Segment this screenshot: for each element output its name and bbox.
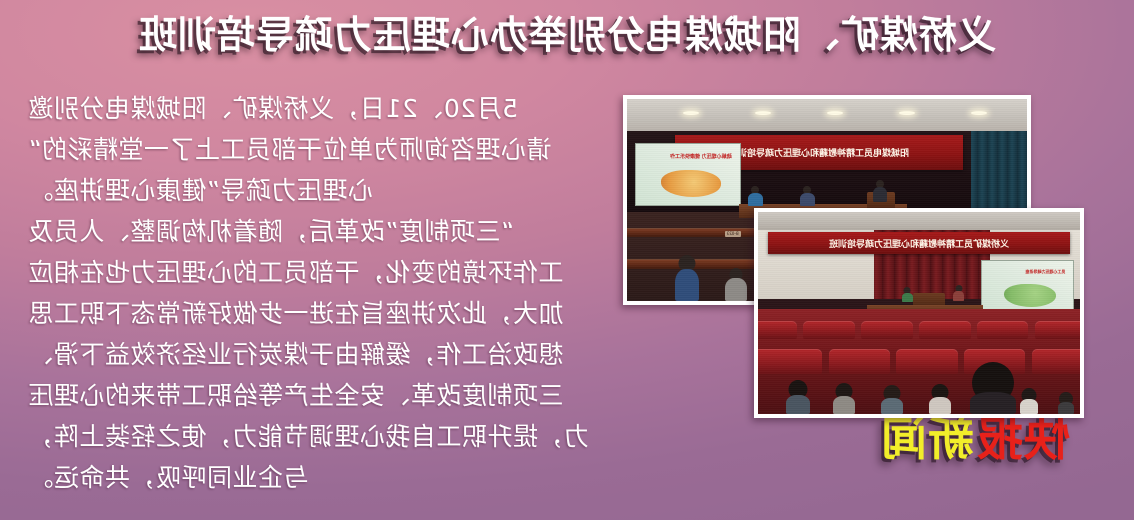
presenter: [953, 285, 964, 301]
presenter-body: [800, 193, 815, 206]
masthead-watermark: 新闻 快报: [880, 416, 1070, 462]
audience-body: [675, 269, 699, 301]
audience-body: [1020, 399, 1038, 414]
theatre-seat: [861, 321, 913, 339]
presenter: [800, 186, 815, 206]
article-line: 想政治工作，缓解由于煤炭行业经济效益下滑、: [28, 334, 628, 375]
audience-member: [929, 384, 951, 414]
masthead-part-one: 新闻: [880, 416, 974, 462]
audience-member: [1058, 392, 1074, 414]
event-banner: 义桥煤矿员工精神慰藉和心理压力疏导培训班: [768, 232, 1071, 254]
article-line: 与企业同呼吸，共命运。: [28, 457, 628, 498]
event-banner-text: 阳城煤电员工精神慰藉和心理压力疏导培训班: [729, 146, 909, 159]
slide-graphic: [661, 170, 721, 197]
audience-member: [675, 255, 699, 301]
presenter: [902, 287, 913, 302]
ceiling: [627, 99, 1027, 131]
seat-tag: B-023: [725, 231, 741, 237]
article-line: “三项制度”改革后，随着机构调整、人员及: [28, 211, 628, 252]
projection-screen-title: 员工心理压力疏导讲座: [1025, 269, 1065, 275]
projection-screen: 疏解心理压力 健康快乐工作: [635, 143, 741, 206]
presenter-body: [902, 293, 913, 302]
theatre-seat: [919, 321, 971, 339]
article-line: 请心理咨询师为单位干部员工上了一堂精彩的“: [28, 129, 628, 170]
theatre-seat: [829, 349, 890, 373]
slide-graphic: [1004, 284, 1056, 308]
article-line: 力，提升职工自我心理调节能力，使之轻装上阵，: [28, 416, 628, 457]
page-title-text: 义桥煤矿、阳城煤电分别举办心理压力疏导培训班: [138, 14, 996, 58]
photo-2-content: 义桥煤矿员工精神慰藉和心理压力疏导培训班 员工心理压力疏导讲座: [758, 212, 1080, 414]
presenter-body: [748, 193, 763, 206]
audience-body: [833, 396, 855, 414]
photo-auditorium-audience: 义桥煤矿员工精神慰藉和心理压力疏导培训班 员工心理压力疏导讲座: [754, 208, 1084, 418]
audience-body: [970, 392, 1016, 414]
presenter: [873, 180, 887, 202]
theatre-seat: [758, 321, 797, 339]
audience-member: [1020, 388, 1038, 414]
theatre-seat: [758, 349, 822, 373]
presenter-body: [873, 187, 887, 202]
audience-body: [725, 278, 747, 301]
masthead-part-two: 快报: [976, 416, 1070, 462]
stage-curtain: [971, 131, 1027, 216]
projection-screen: 员工心理压力疏导讲座: [981, 260, 1073, 315]
presenter: [748, 186, 763, 206]
article-line: 工作环境的变化，干部员工的心理压力也在相应: [28, 252, 628, 293]
news-poster: 义桥煤矿、阳城煤电分别举办心理压力疏导培训班 阳城煤电员工精神慰藉和心理压力疏导…: [0, 0, 1134, 520]
article-line: 三项制度改革、安全生产等给职工带来的心理压: [28, 375, 628, 416]
theatre-seat: [1035, 321, 1080, 339]
presenter-body: [953, 291, 964, 301]
audience-member-foreground: [970, 362, 1016, 414]
audience-member: [833, 383, 855, 414]
page-title: 义桥煤矿、阳城煤电分别举办心理压力疏导培训班: [0, 14, 1134, 58]
article-body: 5月20、21日，义桥煤矿、阳城煤电分别邀 请心理咨询师为单位干部员工上了一堂精…: [28, 88, 628, 498]
projection-screen-title: 疏解心理压力 健康快乐工作: [670, 153, 732, 160]
theatre-seat: [803, 321, 855, 339]
audience-member: [881, 385, 903, 414]
audience-member: [786, 380, 810, 414]
audience-body: [1058, 402, 1074, 414]
ceiling: [758, 212, 1080, 230]
audience-body: [881, 398, 903, 414]
auditorium-scene: 义桥煤矿员工精神慰藉和心理压力疏导培训班 员工心理压力疏导讲座: [758, 212, 1080, 414]
article-line: 加大，此次讲座旨在进一步做好新常态下职工思: [28, 293, 628, 334]
audience-member: [725, 268, 747, 301]
theatre-seat: [896, 349, 957, 373]
article-line: 心理压力疏导”健康心理讲座。: [28, 170, 628, 211]
article-line: 5月20、21日，义桥煤矿、阳城煤电分别邀: [28, 88, 628, 129]
audience-body: [929, 397, 951, 414]
theatre-seat: [1032, 349, 1080, 373]
theatre-seat: [977, 321, 1029, 339]
event-banner-text: 义桥煤矿员工精神慰藉和心理压力疏导培训班: [829, 237, 1009, 250]
audience-body: [786, 395, 810, 414]
